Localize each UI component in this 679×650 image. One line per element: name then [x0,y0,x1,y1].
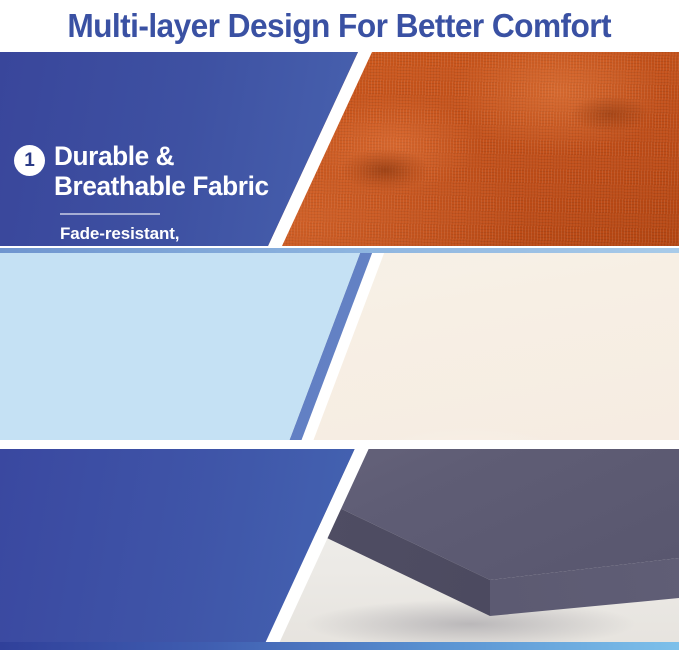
panel-1-heading-line-1: Durable & [54,142,269,172]
panel-3-top-strip [0,446,679,449]
panel-1-heading-line-2: Breathable Fabric [54,172,269,202]
infographic-title-bar: Multi-layer Design For Better Comfort [0,0,679,52]
panel-2-bottom-strip [0,440,679,444]
panel-1-subtitle-line-2: Anti-pilling [60,245,275,246]
panel-1-heading: Durable & Breathable Fabric [54,142,269,202]
feature-panel-1: 1 Durable & Breathable Fabric Fade-resis… [0,52,679,246]
panel-1-heading-row: 1 Durable & Breathable Fabric [14,142,275,202]
feature-panel-2: 2 Memory Foam Shreds Offer superior comf… [0,248,679,444]
panel-1-subtitle-line-1: Fade-resistant, [60,223,275,245]
step-number-badge-1: 1 [14,145,45,176]
panel-1-divider [60,213,160,215]
panel-1-content: 1 Durable & Breathable Fabric Fade-resis… [14,142,275,246]
feature-panel-3: 3 High Density Foam Relieve pressure on … [0,446,679,650]
panel-2-top-strip [0,248,679,253]
panel-1-subtitle: Fade-resistant, Anti-pilling [60,223,275,246]
panel-3-bottom-strip [0,642,679,650]
page-title: Multi-layer Design For Better Comfort [68,7,612,45]
